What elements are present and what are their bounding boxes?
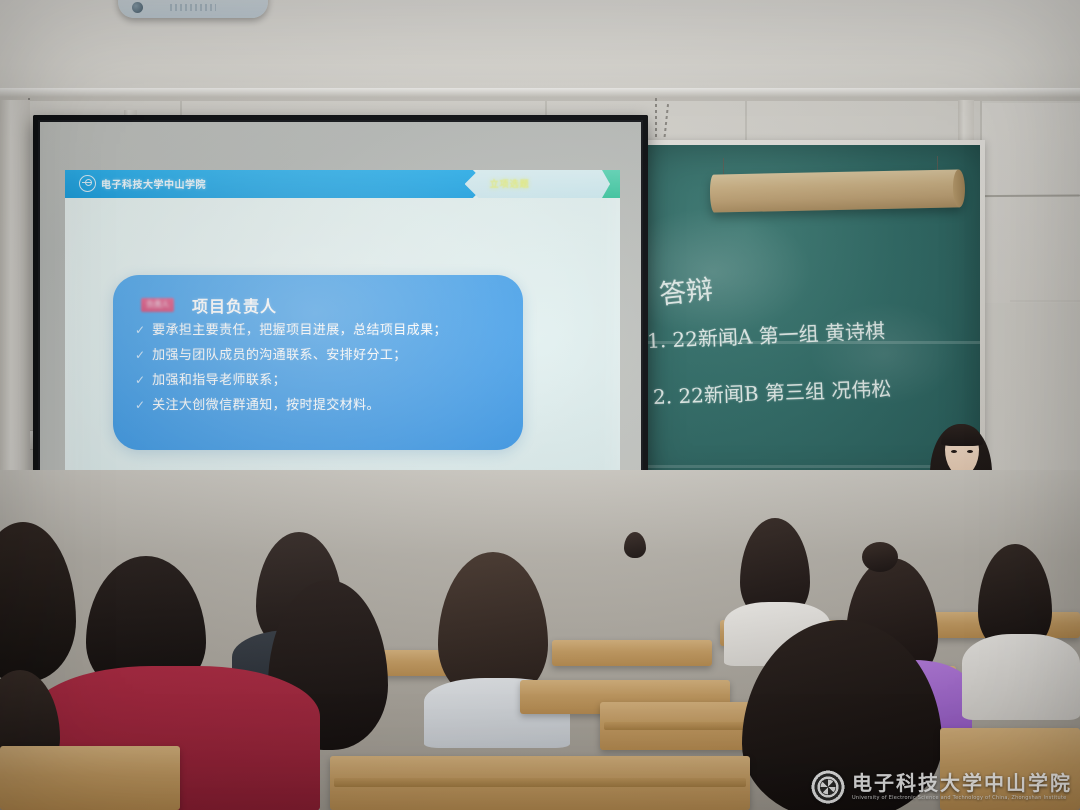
slide-logo: 电子科技大学中山学院: [79, 175, 206, 192]
slide-header-band: [65, 170, 487, 198]
watermark-title-cn: 电子科技大学中山学院: [852, 773, 1072, 794]
check-icon: ✓: [135, 348, 145, 362]
list-item: ✓ 要承担主要责任，把握项目进展，总结项目成果；: [135, 323, 515, 338]
slide-header-accent: [602, 170, 620, 198]
bench: [552, 640, 712, 666]
student-head: [624, 532, 646, 558]
list-item: ✓ 加强与团队成员的沟通联系、安排好分工；: [135, 348, 515, 363]
projector-lens-icon: [132, 2, 143, 13]
watermark-text: 电子科技大学中山学院 University of Electronic Scie…: [852, 773, 1072, 801]
slide-badge: 负责人: [141, 298, 174, 312]
university-seal-icon: [811, 770, 845, 804]
classroom-photo: 答辩 1. 22新闻A 第一组 黄诗棋 2. 22新闻B 第三组 况伟松 立项选…: [0, 0, 1080, 810]
student-body: [962, 634, 1080, 720]
bullet-text: 要承担主要责任，把握项目进展，总结项目成果；: [152, 323, 447, 338]
bench: [0, 746, 180, 810]
bullet-text: 加强和指导老师联系；: [152, 373, 286, 388]
slide-logo-text: 电子科技大学中山学院: [101, 176, 206, 191]
watermark: 电子科技大学中山学院 University of Electronic Scie…: [811, 770, 1072, 804]
hanging-chain: [655, 98, 657, 142]
hair-bun: [862, 542, 898, 572]
projector-vent: [170, 4, 216, 11]
university-emblem-icon: [79, 175, 96, 192]
watermark-title-en: University of Electronic Science and Tec…: [852, 795, 1072, 801]
bullet-text: 关注大创微信群通知，按时提交材料。: [152, 398, 380, 413]
slide-title: 项目负责人: [192, 293, 277, 317]
slide-tab-label: 立项选题: [490, 177, 530, 190]
ceiling-trim: [0, 88, 1080, 97]
list-item: ✓ 关注大创微信群通知，按时提交材料。: [135, 398, 515, 413]
check-icon: ✓: [135, 373, 145, 387]
audience-area: [0, 470, 1080, 810]
list-item: ✓ 加强和指导老师联系；: [135, 373, 515, 388]
wall-panel: [982, 103, 1080, 303]
presenter-eye: [951, 450, 957, 453]
slide-header: 立项选题 电子科技大学中山学院: [65, 170, 620, 198]
ceiling-projector-icon: [118, 0, 268, 18]
bullet-text: 加强与团队成员的沟通联系、安排好分工；: [152, 348, 407, 363]
presenter-eye: [967, 450, 973, 453]
slide-header-tab: [465, 170, 620, 198]
slide-bullet-list: ✓ 要承担主要责任，把握项目进展，总结项目成果； ✓ 加强与团队成员的沟通联系、…: [135, 323, 515, 423]
check-icon: ✓: [135, 323, 145, 337]
check-icon: ✓: [135, 398, 145, 412]
chalk-heading: 答辩: [657, 267, 715, 311]
slide-badge-label: 负责人: [141, 299, 174, 310]
bench-slat: [334, 778, 746, 787]
slide-content-box: 负责人 项目负责人 ✓ 要承担主要责任，把握项目进展，总结项目成果； ✓ 加强与…: [113, 275, 523, 450]
ceiling-shadow-line: [0, 97, 1080, 101]
slide-title-row: 负责人 项目负责人: [141, 293, 277, 317]
rolled-banner: [710, 169, 964, 212]
